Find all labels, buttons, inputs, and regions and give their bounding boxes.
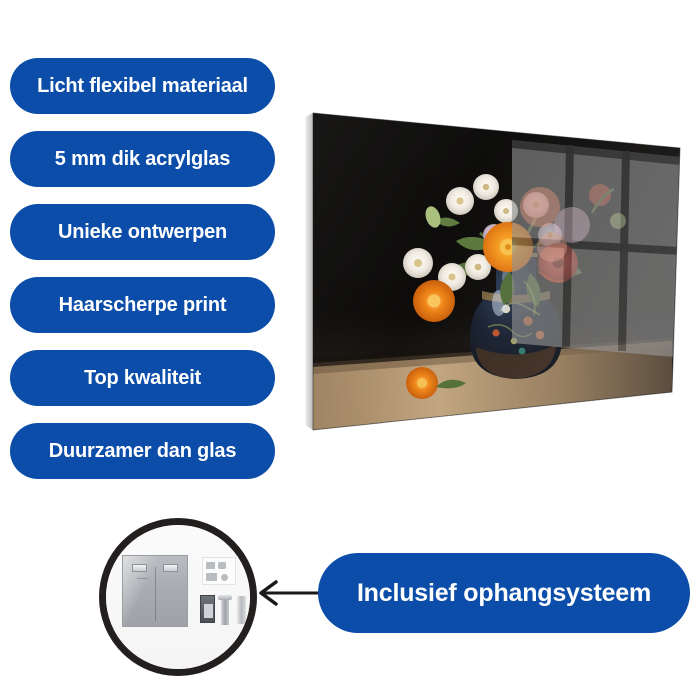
plate-marking	[137, 578, 147, 622]
leaflet-figure	[218, 562, 226, 569]
acrylic-edge-thickness	[305, 113, 313, 430]
callout-pill-inclusief-ophangsysteem[interactable]: Inclusief ophangsysteem	[318, 553, 690, 633]
feature-pill-licht-flexibel-materiaal[interactable]: Licht flexibel materiaal	[10, 58, 275, 114]
acrylic-panel	[300, 95, 692, 445]
feature-pill-label: Duurzamer dan glas	[49, 441, 237, 461]
callout-arrow-icon	[252, 575, 328, 611]
feature-pill-label: Top kwaliteit	[84, 368, 201, 388]
leaflet-figure	[221, 574, 228, 581]
instruction-leaflet	[202, 557, 236, 585]
callout-pill-label: Inclusief ophangsysteem	[357, 581, 651, 606]
feature-pill-label: 5 mm dik acrylglas	[55, 149, 230, 169]
hanging-system-inset	[99, 518, 257, 676]
product-feature-graphic: Licht flexibel materiaal 5 mm dik acrylg…	[0, 0, 700, 700]
feature-pill-5-mm-dik-acrylglas[interactable]: 5 mm dik acrylglas	[10, 131, 275, 187]
mounting-plate	[122, 555, 188, 627]
hanging-system-photo	[99, 519, 257, 676]
artwork-image	[300, 95, 692, 445]
feature-pill-label: Unieke ontwerpen	[58, 222, 227, 242]
feature-pill-unieke-ontwerpen[interactable]: Unieke ontwerpen	[10, 204, 275, 260]
plate-slot	[155, 567, 156, 621]
spacer-pad-2	[254, 612, 257, 625]
wall-bracket	[200, 595, 215, 623]
feature-pill-top-kwaliteit[interactable]: Top kwaliteit	[10, 350, 275, 406]
leaflet-figure	[206, 573, 217, 581]
feature-pill-label: Licht flexibel materiaal	[37, 76, 248, 96]
feature-pill-haarscherpe-print[interactable]: Haarscherpe print	[10, 277, 275, 333]
leaflet-figure	[206, 562, 215, 569]
wall-plug	[237, 596, 246, 624]
feature-pill-label: Haarscherpe print	[59, 295, 227, 315]
window-reflection	[313, 113, 680, 430]
acrylic-panel-render	[300, 95, 692, 445]
screw	[221, 595, 229, 625]
feature-pill-duurzamer-dan-glas[interactable]: Duurzamer dan glas	[10, 423, 275, 479]
